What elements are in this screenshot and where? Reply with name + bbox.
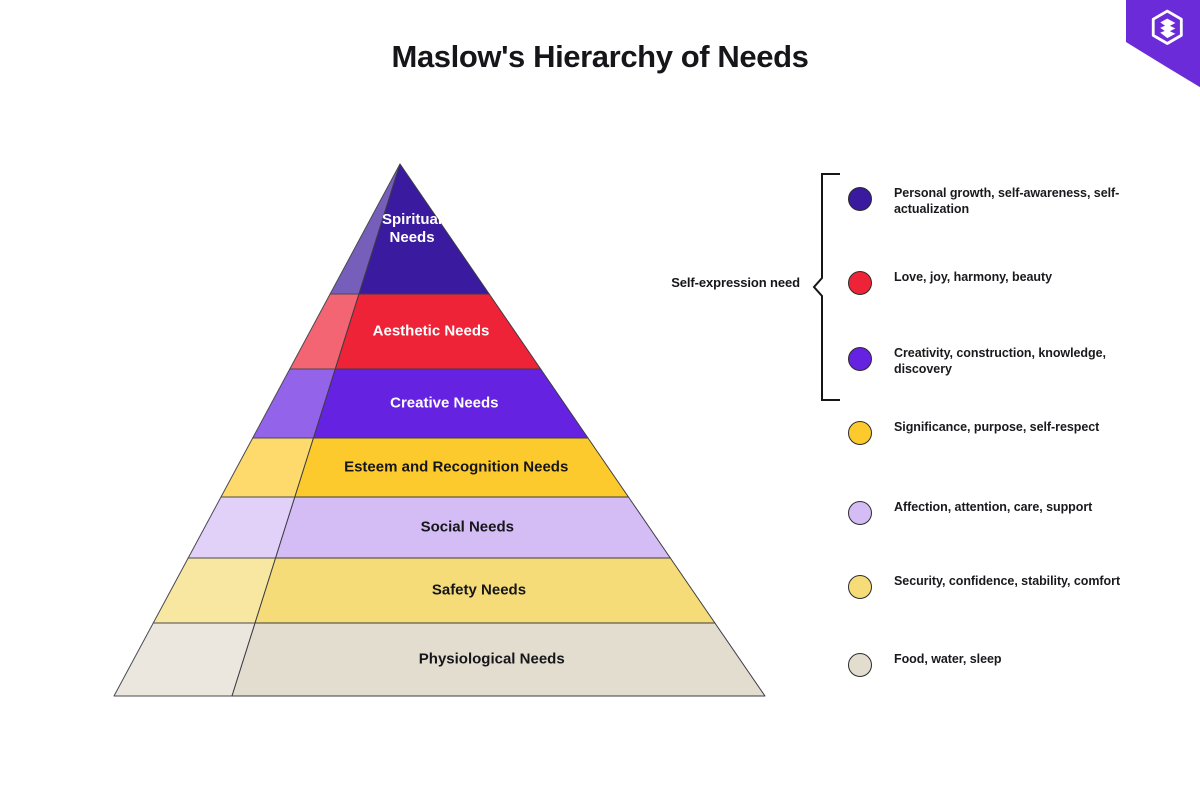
legend-item[interactable]: Significance, purpose, self-respect [848,420,1158,445]
legend-color-swatch-icon [848,271,872,295]
pyramid-tier-side-1 [114,623,255,696]
pyramid-svg: SpiritualNeedsAesthetic NeedsCreative Ne… [50,150,790,720]
page-title: Maslow's Hierarchy of Needs [0,36,1200,78]
legend-item[interactable]: Personal growth, self-awareness, self-ac… [848,186,1158,217]
legend-item[interactable]: Security, confidence, stability, comfort [848,574,1158,599]
pyramid-tier-label: Safety Needs [432,581,526,598]
legend-item[interactable]: Food, water, sleep [848,652,1158,677]
pyramid-tier-label: SpiritualNeeds [382,211,442,246]
legend-item[interactable]: Affection, attention, care, support [848,500,1158,525]
legend-color-swatch-icon [848,501,872,525]
bracket-shape [812,172,842,402]
pyramid-tier-label: Aesthetic Needs [373,322,490,339]
legend-item-label: Love, joy, harmony, beauty [894,270,1052,286]
legend-color-swatch-icon [848,421,872,445]
legend-item[interactable]: Creativity, construction, knowledge, dis… [848,346,1158,377]
pyramid-diagram: SpiritualNeedsAesthetic NeedsCreative Ne… [50,150,790,720]
pyramid-tier-side-2 [153,558,275,623]
pyramid-tier-label: Esteem and Recognition Needs [344,458,568,475]
pyramid-tier-label: Physiological Needs [419,650,565,667]
self-expression-bracket [812,172,842,402]
legend-color-swatch-icon [848,347,872,371]
brand-banner-shape [1118,0,1200,92]
pyramid-tier-label: Creative Needs [390,394,498,411]
legend-color-swatch-icon [848,187,872,211]
legend-item-label: Significance, purpose, self-respect [894,420,1099,436]
legend-item-label: Security, confidence, stability, comfort [894,574,1120,590]
legend-item-label: Affection, attention, care, support [894,500,1092,516]
legend-item[interactable]: Love, joy, harmony, beauty [848,270,1158,295]
infographic-canvas: Maslow's Hierarchy of Needs SpiritualNee… [0,0,1200,804]
legend-item-label: Food, water, sleep [894,652,1001,668]
legend-item-label: Creativity, construction, knowledge, dis… [894,346,1124,377]
legend-color-swatch-icon [848,653,872,677]
legend-color-swatch-icon [848,575,872,599]
brand-banner [1118,0,1200,84]
legend-item-label: Personal growth, self-awareness, self-ac… [894,186,1124,217]
pyramid-tier-label: Social Needs [421,518,514,535]
bracket-label: Self-expression need [620,274,800,292]
